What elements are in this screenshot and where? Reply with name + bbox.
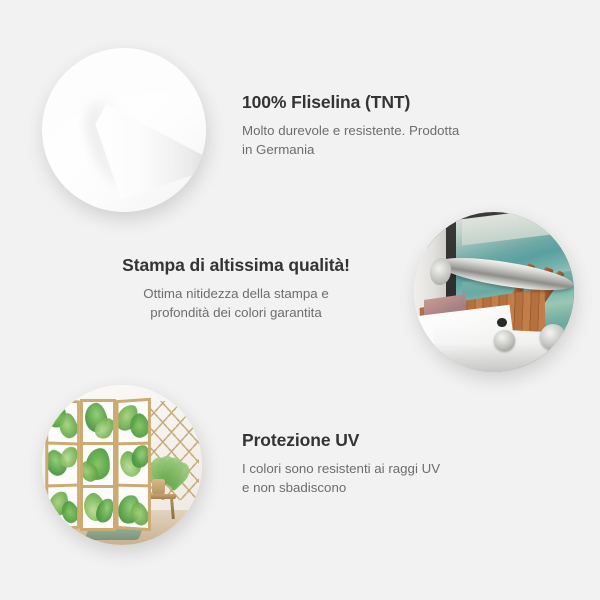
feature-text-protezione-uv: Protezione UV I colori sono resistenti a… bbox=[242, 430, 522, 498]
printer-dark-knob bbox=[497, 318, 507, 328]
printer-bottom-shadow bbox=[414, 343, 574, 372]
folding-screen-panel bbox=[80, 399, 116, 530]
feature-desc-fliselina-line1: Molto durevole e resistente. Prodotta bbox=[242, 122, 522, 141]
feature-text-fliselina: 100% Fliselina (TNT) Molto durevole e re… bbox=[242, 92, 522, 160]
wallpaper-roll-clip bbox=[42, 48, 206, 212]
screen-cell bbox=[48, 401, 77, 445]
printing-press-clip bbox=[414, 212, 574, 372]
screen-cell bbox=[83, 402, 113, 445]
feature-title-stampa-qualita: Stampa di altissima qualità! bbox=[86, 255, 386, 276]
screen-cell bbox=[83, 488, 113, 528]
screen-cell bbox=[118, 445, 147, 488]
interior-screen-image bbox=[42, 385, 202, 545]
screen-cell bbox=[118, 401, 147, 445]
feature-desc-stampa-line2: profondità dei colori garantita bbox=[86, 304, 386, 323]
feature-desc-uv-line1: I colori sono resistenti ai raggi UV bbox=[242, 460, 522, 479]
screen-cell bbox=[118, 488, 147, 529]
printing-press-image bbox=[414, 212, 574, 372]
wallpaper-roll-image bbox=[42, 48, 206, 212]
folding-screen-panel bbox=[116, 398, 151, 532]
feature-text-stampa-qualita: Stampa di altissima qualità! Ottima niti… bbox=[86, 255, 386, 323]
screen-cell bbox=[48, 445, 77, 489]
feature-desc-fliselina-line2: in Germania bbox=[242, 141, 522, 160]
feature-title-fliselina: 100% Fliselina (TNT) bbox=[242, 92, 522, 113]
feature-desc-uv-line2: e non sbadiscono bbox=[242, 479, 522, 498]
stool-leg bbox=[170, 499, 175, 520]
screen-cell bbox=[48, 487, 77, 529]
folding-screen-panel bbox=[45, 398, 80, 533]
product-feature-infographic: 100% Fliselina (TNT) Molto durevole e re… bbox=[0, 0, 600, 600]
interior-screen-clip bbox=[42, 385, 202, 545]
screen-cell bbox=[83, 445, 113, 488]
feature-title-protezione-uv: Protezione UV bbox=[242, 430, 522, 451]
feature-desc-stampa-line1: Ottima nitidezza della stampa e bbox=[86, 285, 386, 304]
tropical-folding-screen bbox=[45, 399, 151, 530]
